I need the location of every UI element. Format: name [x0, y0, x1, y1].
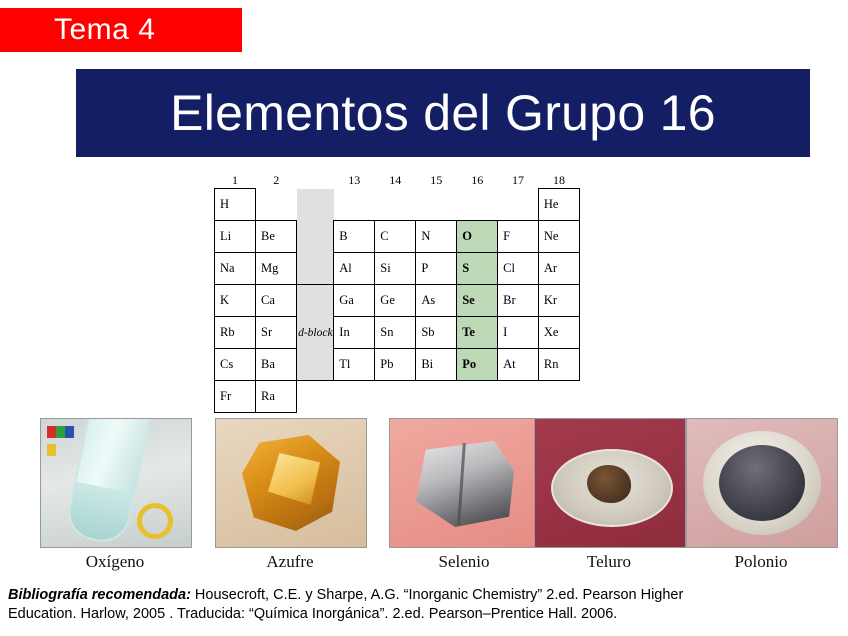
empty-cell: [375, 381, 416, 413]
table-row: Li Be B C N O F Ne: [215, 221, 580, 253]
dblock-spacer: [297, 221, 334, 253]
oxygen-image: [40, 418, 192, 548]
element-cell: Fr: [215, 381, 256, 413]
group-header-2: 2: [256, 172, 297, 189]
element-cell: Ar: [538, 253, 579, 285]
empty-cell: [498, 189, 539, 221]
group-header-18: 18: [538, 172, 579, 189]
group-header-row: 1 2 13 14 15 16 17 18: [215, 172, 580, 189]
element-cell-highlighted: S: [457, 253, 498, 285]
element-cell: Li: [215, 221, 256, 253]
table-row: K Ca d-block Ga Ge As Se Br Kr: [215, 285, 580, 317]
element-cell: Na: [215, 253, 256, 285]
element-cell: Sn: [375, 317, 416, 349]
element-cell: K: [215, 285, 256, 317]
bibliography: Bibliografía recomendada: Housecroft, C.…: [8, 586, 840, 624]
element-cell: C: [375, 221, 416, 253]
polonium-photo: Polonio: [686, 418, 836, 572]
element-cell-highlighted: Te: [457, 317, 498, 349]
empty-cell: [297, 381, 334, 413]
element-cell: F: [498, 221, 539, 253]
oxygen-caption: Oxígeno: [40, 552, 190, 572]
group-header-1: 1: [215, 172, 256, 189]
page-title: Elementos del Grupo 16: [170, 84, 716, 142]
empty-cell: [256, 189, 297, 221]
tellurium-photo: Teluro: [534, 418, 684, 572]
selenium-caption: Selenio: [389, 552, 539, 572]
element-cell: Bi: [416, 349, 457, 381]
tema-banner: Tema 4: [0, 8, 242, 52]
element-cell: Ne: [538, 221, 579, 253]
bibliography-line-2: Education. Harlow, 2005 . Traducida: “Qu…: [8, 605, 840, 624]
group-header-16: 16: [457, 172, 498, 189]
element-cell: Si: [375, 253, 416, 285]
selenium-photo: Selenio: [389, 418, 539, 572]
tellurium-caption: Teluro: [534, 552, 684, 572]
empty-cell: [334, 189, 375, 221]
element-cell: Ge: [375, 285, 416, 317]
oxygen-photo: Oxígeno: [40, 418, 190, 572]
empty-cell: [538, 381, 579, 413]
element-cell: H: [215, 189, 256, 221]
element-cell: N: [416, 221, 457, 253]
group-header-14: 14: [375, 172, 416, 189]
element-cell: Be: [256, 221, 297, 253]
bibliography-label: Bibliografía recomendada:: [8, 587, 191, 603]
bibliography-text-1: Housecroft, C.E. y Sharpe, A.G. “Inorgan…: [191, 587, 683, 603]
element-cell-highlighted: Po: [457, 349, 498, 381]
empty-cell: [457, 189, 498, 221]
sulfur-caption: Azufre: [215, 552, 365, 572]
element-cell: Al: [334, 253, 375, 285]
sulfur-image: [215, 418, 367, 548]
tellurium-image: [534, 418, 686, 548]
group-header-17: 17: [498, 172, 539, 189]
empty-cell: [416, 381, 457, 413]
element-cell: Ca: [256, 285, 297, 317]
disc-inner-shape: [719, 445, 805, 521]
empty-cell: [375, 189, 416, 221]
periodic-table: 1 2 13 14 15 16 17 18 H He Li Be: [214, 172, 580, 413]
dblock-spacer: [297, 189, 334, 221]
element-cell: As: [416, 285, 457, 317]
element-cell: At: [498, 349, 539, 381]
element-cell: Ba: [256, 349, 297, 381]
polonium-caption: Polonio: [686, 552, 836, 572]
periodic-table-grid: 1 2 13 14 15 16 17 18 H He Li Be: [214, 172, 580, 413]
element-cell: Cs: [215, 349, 256, 381]
element-cell: He: [538, 189, 579, 221]
element-cell: P: [416, 253, 457, 285]
table-row: Rb Sr In Sn Sb Te I Xe: [215, 317, 580, 349]
element-cell: Rb: [215, 317, 256, 349]
element-cell: Kr: [538, 285, 579, 317]
element-cell: Tl: [334, 349, 375, 381]
dblock-label: d-block: [297, 285, 334, 381]
empty-cell: [457, 381, 498, 413]
empty-cell: [416, 189, 457, 221]
element-cell: Pb: [375, 349, 416, 381]
empty-cell: [334, 381, 375, 413]
slide-title-bar: Elementos del Grupo 16: [76, 69, 810, 157]
tellurium-lump-shape: [587, 465, 631, 503]
element-cell: Rn: [538, 349, 579, 381]
element-cell: Cl: [498, 253, 539, 285]
color-swatch-icon: [47, 425, 81, 437]
element-cell-highlighted: Se: [457, 285, 498, 317]
element-cell: Sr: [256, 317, 297, 349]
dblock-spacer: [297, 253, 334, 285]
polonium-image: [686, 418, 838, 548]
element-cell: Sb: [416, 317, 457, 349]
table-row: Fr Ra: [215, 381, 580, 413]
element-cell: Br: [498, 285, 539, 317]
element-cell: Xe: [538, 317, 579, 349]
bibliography-line-1: Bibliografía recomendada: Housecroft, C.…: [8, 586, 840, 605]
selenium-image: [389, 418, 541, 548]
table-row: H He: [215, 189, 580, 221]
sulfur-photo: Azufre: [215, 418, 365, 572]
table-row: Cs Ba Tl Pb Bi Po At Rn: [215, 349, 580, 381]
element-cell: Mg: [256, 253, 297, 285]
element-cell: B: [334, 221, 375, 253]
element-photo-strip: Oxígeno Azufre Selenio Teluro Polonio: [0, 418, 848, 573]
tema-label: Tema 4: [0, 13, 155, 47]
group-header-13: 13: [334, 172, 375, 189]
table-row: Na Mg Al Si P S Cl Ar: [215, 253, 580, 285]
element-cell: Ga: [334, 285, 375, 317]
ring-icon: [137, 503, 173, 539]
group-header-15: 15: [416, 172, 457, 189]
element-cell: Ra: [256, 381, 297, 413]
element-cell-highlighted: O: [457, 221, 498, 253]
element-cell: In: [334, 317, 375, 349]
group-header-dblock-spacer: [297, 172, 334, 189]
empty-cell: [498, 381, 539, 413]
element-cell: I: [498, 317, 539, 349]
